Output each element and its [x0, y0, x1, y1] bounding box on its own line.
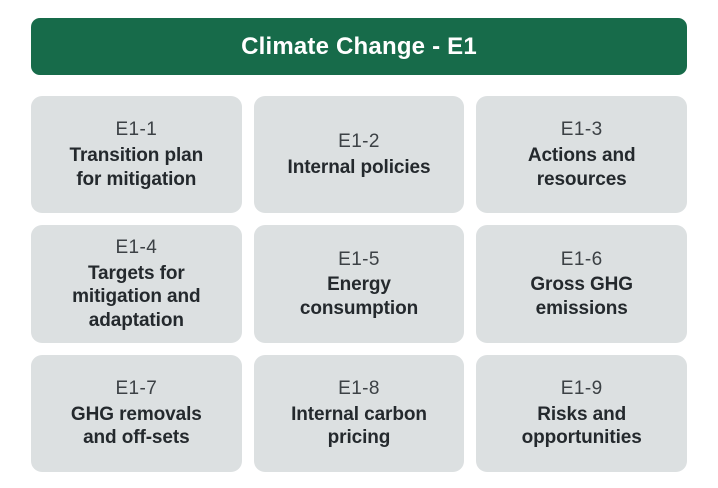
card-code-e1-4: E1-4 — [115, 236, 157, 260]
card-e1-6[interactable]: E1-6 Gross GHG emissions — [476, 225, 687, 342]
card-code-e1-8: E1-8 — [338, 377, 380, 401]
header-banner: Climate Change - E1 — [31, 18, 687, 75]
card-e1-4[interactable]: E1-4 Targets for mitigation and adaptati… — [31, 225, 242, 342]
card-e1-8[interactable]: E1-8 Internal carbon pricing — [254, 355, 465, 472]
card-title-e1-7: GHG removals and off-sets — [71, 403, 202, 450]
card-code-e1-6: E1-6 — [561, 248, 603, 272]
card-title-e1-3: Actions and resources — [528, 144, 636, 191]
card-e1-1[interactable]: E1-1 Transition plan for mitigation — [31, 96, 242, 213]
card-title-e1-8: Internal carbon pricing — [291, 403, 427, 450]
climate-change-e1-diagram: Climate Change - E1 E1-1 Transition plan… — [0, 0, 718, 488]
page-title: Climate Change - E1 — [241, 35, 477, 59]
disclosure-card-grid: E1-1 Transition plan for mitigation E1-2… — [31, 96, 687, 472]
card-code-e1-1: E1-1 — [115, 118, 157, 142]
card-title-e1-1: Transition plan for mitigation — [70, 144, 204, 191]
card-title-e1-5: Energy consumption — [300, 273, 418, 320]
card-title-e1-2: Internal policies — [288, 156, 431, 180]
card-e1-5[interactable]: E1-5 Energy consumption — [254, 225, 465, 342]
card-e1-2[interactable]: E1-2 Internal policies — [254, 96, 465, 213]
card-title-e1-9: Risks and opportunities — [522, 403, 642, 450]
card-code-e1-5: E1-5 — [338, 248, 380, 272]
card-title-e1-6: Gross GHG emissions — [530, 273, 633, 320]
card-code-e1-3: E1-3 — [561, 118, 603, 142]
card-e1-9[interactable]: E1-9 Risks and opportunities — [476, 355, 687, 472]
card-code-e1-9: E1-9 — [561, 377, 603, 401]
card-title-e1-4: Targets for mitigation and adaptation — [72, 262, 200, 333]
card-e1-3[interactable]: E1-3 Actions and resources — [476, 96, 687, 213]
card-e1-7[interactable]: E1-7 GHG removals and off-sets — [31, 355, 242, 472]
card-code-e1-7: E1-7 — [115, 377, 157, 401]
card-code-e1-2: E1-2 — [338, 130, 380, 154]
